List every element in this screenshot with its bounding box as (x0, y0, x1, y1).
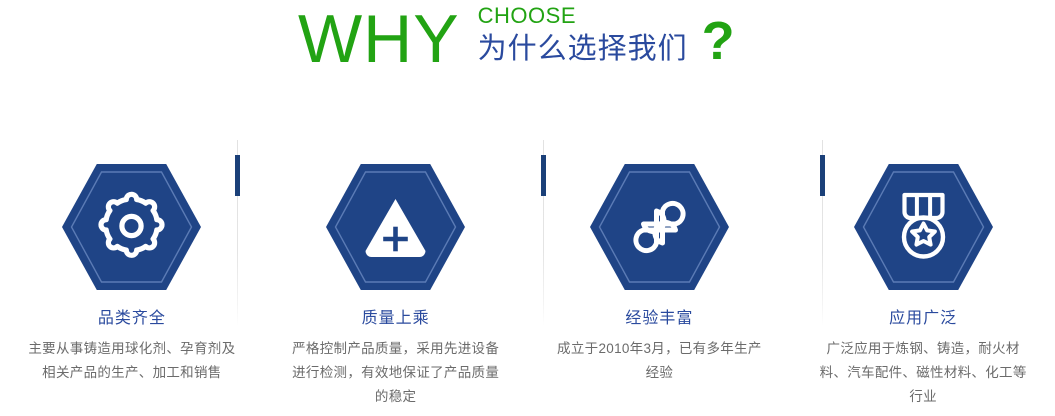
feature-title-4: 应用广泛 (889, 309, 957, 329)
divider-cap-2 (541, 155, 546, 196)
gear-icon (62, 163, 201, 291)
column-divider-3 (822, 140, 823, 326)
feature-desc-4: 广泛应用于炼钢、铸造，耐火材料、汽车配件、磁性材料、化工等行业 (818, 337, 1028, 409)
page-root: WHY CHOOSE 为什么选择我们 ? 品类齐全 (0, 0, 1055, 416)
header-choose-text: CHOOSE (478, 4, 688, 28)
feature-column-1[interactable]: 品类齐全 主要从事铸造用球化剂、孕育剂及相关产品的生产、加工和销售 (0, 140, 264, 416)
header-chinese-title: 为什么选择我们 (478, 32, 688, 66)
hexagon-badge-3 (590, 163, 729, 291)
column-divider-1 (237, 140, 238, 326)
header-subtitle-group: CHOOSE 为什么选择我们 (478, 4, 688, 66)
triangle-plus-icon (326, 163, 465, 291)
header-why-text: WHY (298, 2, 460, 76)
feature-column-4[interactable]: 应用广泛 广泛应用于炼钢、铸造，耐火材料、汽车配件、磁性材料、化工等行业 (791, 140, 1055, 416)
feature-column-2[interactable]: 质量上乘 严格控制产品质量，采用先进设备进行检测，有效地保证了产品质量的稳定 (264, 140, 528, 416)
feature-title-3: 经验丰富 (625, 309, 693, 329)
hexagon-badge-2 (326, 163, 465, 291)
feature-title-2: 质量上乘 (362, 309, 430, 329)
header-question-mark: ? (702, 14, 735, 68)
medal-star-icon (854, 163, 993, 291)
header-title-group: WHY CHOOSE 为什么选择我们 ? (298, 0, 735, 76)
divider-cap-3 (820, 155, 825, 196)
clover-icon (590, 163, 729, 291)
section-header: WHY CHOOSE 为什么选择我们 ? (0, 0, 1055, 95)
column-divider-2 (543, 140, 544, 326)
features-row: 品类齐全 主要从事铸造用球化剂、孕育剂及相关产品的生产、加工和销售 (0, 140, 1055, 416)
feature-desc-2: 严格控制产品质量，采用先进设备进行检测，有效地保证了产品质量的稳定 (291, 337, 501, 409)
hexagon-badge-1 (62, 163, 201, 291)
feature-title-1: 品类齐全 (98, 309, 166, 329)
feature-desc-1: 主要从事铸造用球化剂、孕育剂及相关产品的生产、加工和销售 (27, 337, 237, 385)
divider-cap-1 (235, 155, 240, 196)
hexagon-badge-4 (854, 163, 993, 291)
feature-column-3[interactable]: 经验丰富 成立于2010年3月，已有多年生产经验 (528, 140, 792, 416)
feature-desc-3: 成立于2010年3月，已有多年生产经验 (554, 337, 764, 385)
